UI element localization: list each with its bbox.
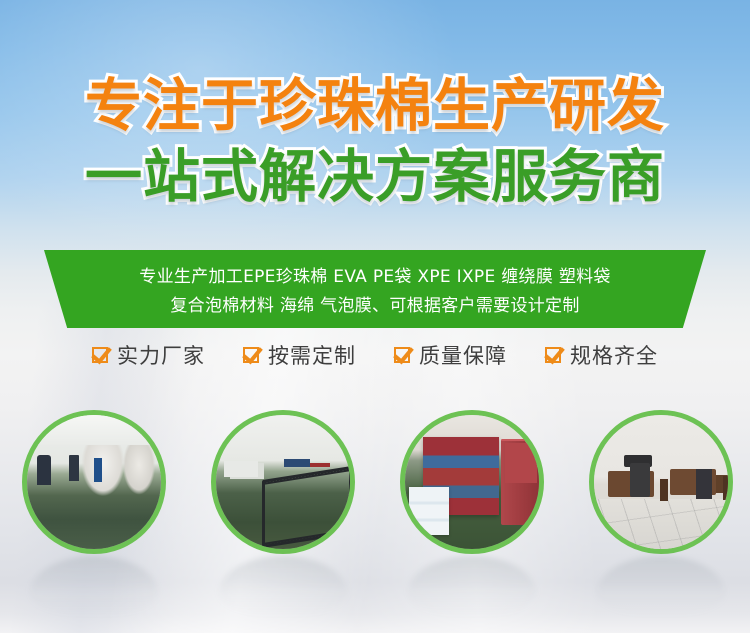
product-list-line-1: 专业生产加工EPE珍珠棉 EVA PE袋 XPE IXPE 缠绕膜 塑料袋 [139, 262, 610, 287]
photo-office-floor [594, 499, 728, 554]
photo-office-printer [624, 455, 652, 467]
product-list-lines: 专业生产加工EPE珍珠棉 EVA PE袋 XPE IXPE 缠绕膜 塑料袋 复合… [44, 250, 706, 328]
photo-production-rolls [22, 410, 166, 554]
photo-office [589, 410, 733, 554]
feature-label-specs: 规格齐全 [570, 340, 658, 370]
feature-label-strength: 实力厂家 [117, 340, 205, 370]
checkbox-checked-icon [394, 347, 410, 363]
promo-banner: 专注于珍珠棉生产研发 一站式解决方案服务商 专业生产加工EPE珍珠棉 EVA P… [0, 0, 750, 633]
photo-reflection-1 [30, 556, 158, 618]
photo-red-bundle [501, 439, 541, 525]
photo-reflection-3 [408, 556, 536, 618]
photo-circle-1 [22, 410, 166, 554]
photo-reflection-2 [219, 556, 347, 618]
headline-line-1: 专注于珍珠棉生产研发 [0, 78, 750, 135]
photo-reflection-4 [597, 556, 725, 618]
photo-image-3 [405, 415, 539, 549]
product-list-line-2: 复合泡棉材料 海绵 气泡膜、可根据客户需要设计定制 [170, 291, 579, 316]
photo-circle-4 [589, 410, 733, 554]
feature-item-specs: 规格齐全 [545, 340, 658, 370]
feature-item-custom: 按需定制 [243, 340, 356, 370]
checkbox-checked-icon [545, 347, 561, 363]
checkbox-checked-icon [92, 347, 108, 363]
feature-label-quality: 质量保障 [419, 340, 507, 370]
photo-image-2 [216, 415, 350, 549]
photo-warehouse-rack [211, 410, 355, 554]
feature-label-custom: 按需定制 [268, 340, 356, 370]
product-list-band: 专业生产加工EPE珍珠棉 EVA PE袋 XPE IXPE 缠绕膜 塑料袋 复合… [44, 250, 706, 328]
photo-circle-2 [211, 410, 355, 554]
photo-image-1 [27, 415, 161, 549]
headline-line-2: 一站式解决方案服务商 [0, 149, 750, 206]
photo-image-4 [594, 415, 728, 549]
feature-item-strength: 实力厂家 [92, 340, 205, 370]
feature-list: 实力厂家 按需定制 质量保障 规格齐全 [0, 340, 750, 370]
headline-block: 专注于珍珠棉生产研发 一站式解决方案服务商 [0, 78, 750, 206]
photo-gallery [0, 410, 750, 560]
photo-circle-3 [400, 410, 544, 554]
photo-packaged-goods [400, 410, 544, 554]
feature-item-quality: 质量保障 [394, 340, 507, 370]
checkbox-checked-icon [243, 347, 259, 363]
